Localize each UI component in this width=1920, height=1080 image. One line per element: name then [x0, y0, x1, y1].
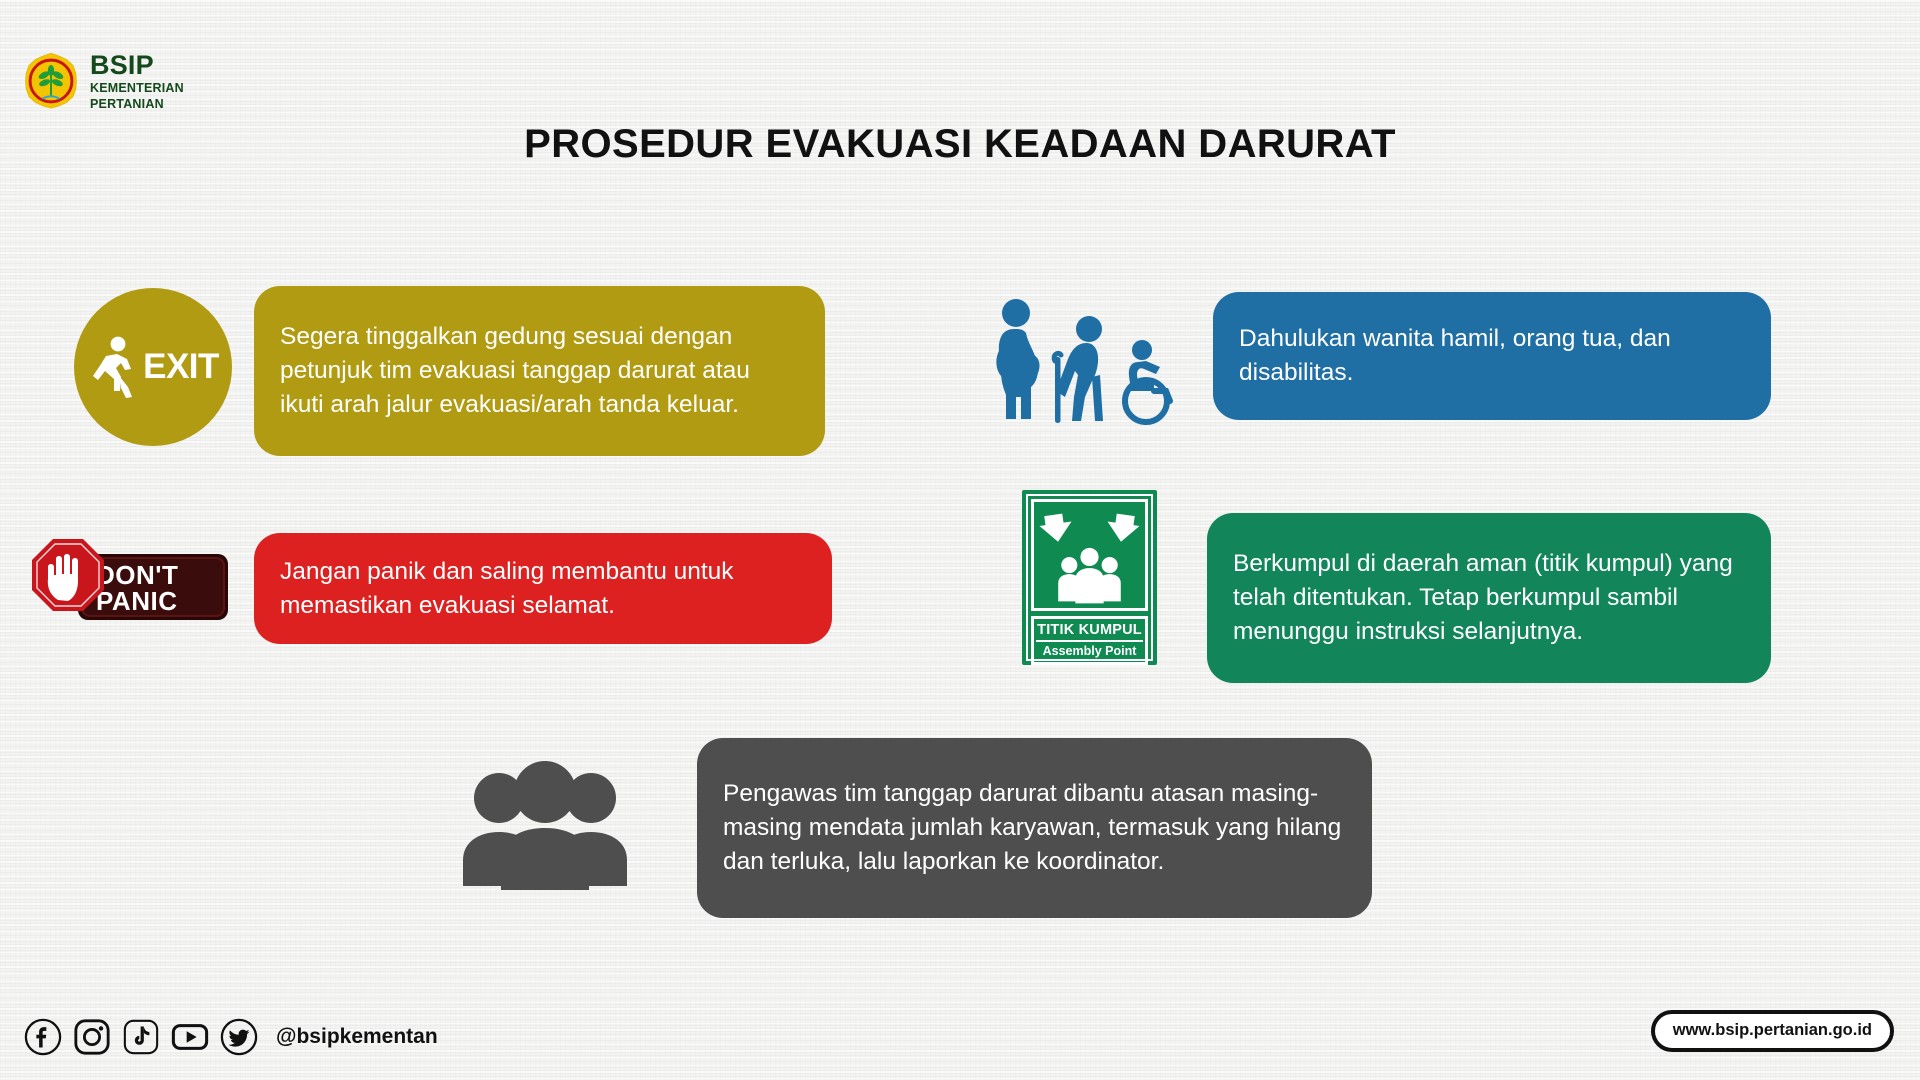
step-card-exit: Segera tinggalkan gedung sesuai dengan p… — [254, 286, 825, 456]
facebook-icon[interactable] — [24, 1018, 62, 1056]
step-text-supervisor: Pengawas tim tanggap darurat dibantu ata… — [723, 777, 1346, 878]
bsip-logo-mark — [22, 52, 80, 110]
assembly-arrows-people — [1034, 502, 1145, 608]
elderly-with-cane-icon — [1048, 313, 1114, 425]
twitter-icon[interactable] — [220, 1018, 258, 1056]
exit-label: EXIT — [143, 347, 219, 387]
assembly-label-en: Assembly Point — [1036, 642, 1143, 658]
footer-social-bar: @bsipkementan — [24, 1018, 438, 1056]
running-man-glyph — [87, 335, 141, 399]
group-of-people-icon — [455, 756, 635, 896]
pregnant-elderly-wheelchair-icon — [975, 290, 1190, 425]
step-card-priority: Dahulukan wanita hamil, orang tua, dan d… — [1213, 292, 1771, 420]
assembly-point-label: TITIK KUMPUL Assembly Point — [1031, 616, 1148, 665]
wheelchair-icon — [1116, 339, 1178, 425]
logo-subtitle-2: PERTANIAN — [90, 98, 184, 111]
tiktok-icon[interactable] — [122, 1018, 160, 1056]
logo-subtitle-1: KEMENTERIAN — [90, 82, 184, 95]
svg-text:PANIC: PANIC — [96, 586, 177, 616]
page-title: PROSEDUR EVAKUASI KEADAAN DARURAT — [0, 122, 1920, 167]
assembly-point-pictogram — [1031, 499, 1148, 611]
step-card-dont-panic: Jangan panik dan saling membantu untuk m… — [254, 533, 832, 644]
step-text-exit: Segera tinggalkan gedung sesuai dengan p… — [280, 320, 799, 421]
website-badge[interactable]: www.bsip.pertanian.go.id — [1651, 1010, 1894, 1052]
dont-panic-stop-hand-icon: DON'T PANIC — [20, 537, 244, 637]
youtube-icon[interactable] — [171, 1018, 209, 1056]
assembly-label-id: TITIK KUMPUL — [1036, 622, 1143, 642]
step-card-supervisor: Pengawas tim tanggap darurat dibantu ata… — [697, 738, 1372, 918]
pregnant-woman-icon — [988, 297, 1046, 425]
step-text-priority: Dahulukan wanita hamil, orang tua, dan d… — [1239, 322, 1745, 390]
step-text-assembly: Berkumpul di daerah aman (titik kumpul) … — [1233, 547, 1745, 648]
instagram-icon[interactable] — [73, 1018, 111, 1056]
assembly-point-sign-icon: TITIK KUMPUL Assembly Point — [1022, 490, 1157, 665]
step-card-assembly: Berkumpul di daerah aman (titik kumpul) … — [1207, 513, 1771, 683]
running-man-exit-icon: EXIT — [74, 288, 232, 446]
social-handle: @bsipkementan — [276, 1025, 438, 1049]
logo-title: BSIP — [90, 52, 184, 79]
step-text-dont-panic: Jangan panik dan saling membantu untuk m… — [280, 555, 806, 623]
bsip-logo: BSIP KEMENTERIAN PERTANIAN — [22, 52, 184, 110]
